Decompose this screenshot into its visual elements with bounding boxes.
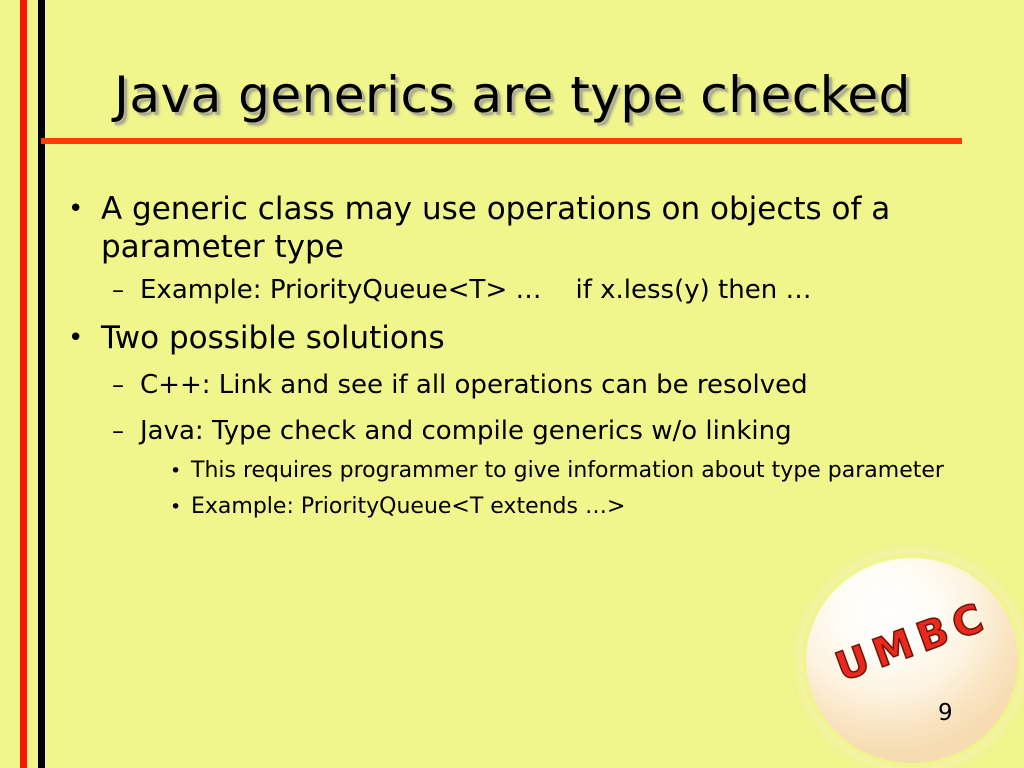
bullet-marker-level2: – [112, 273, 140, 308]
bullet-level1-text: A generic class may use operations on ob… [101, 190, 956, 266]
bullet-marker-level2: – [112, 368, 140, 403]
bullet-level2-item: – Java: Type check and compile generics … [60, 414, 990, 449]
bullet-level2-text: Example: PriorityQueue<T> …if x.less(y) … [140, 273, 990, 308]
slide-title: Java generics are type checked [60, 64, 965, 126]
red-vertical-rule [20, 0, 27, 768]
bullet-level1-item: • Two possible solutions [60, 319, 990, 357]
slide-body: • A generic class may use operations on … [60, 190, 990, 523]
bullet-marker-level2: – [112, 414, 140, 449]
page-number: 9 [938, 700, 953, 726]
bullet-level3-text: Example: PriorityQueue<T extends …> [191, 492, 971, 522]
bullet-level1-item: • A generic class may use operations on … [60, 190, 990, 266]
bullet-marker-level1: • [68, 319, 101, 357]
bullet-level2-item: – Example: PriorityQueue<T> …if x.less(y… [60, 273, 990, 308]
spacer [60, 359, 990, 368]
bullet-level2-text: Java: Type check and compile generics w/… [140, 414, 990, 449]
red-horizontal-rule [41, 138, 962, 144]
bullet-level1-text: Two possible solutions [101, 319, 956, 357]
bullet-level2-text: C++: Link and see if all operations can … [140, 368, 990, 403]
bullet-marker-level3: • [170, 456, 191, 486]
bullet-level3-text: This requires programmer to give informa… [191, 456, 971, 486]
bullet-marker-level3: • [170, 492, 191, 522]
bullet-level3-item: • This requires programmer to give infor… [60, 456, 990, 486]
black-vertical-rule [38, 0, 45, 768]
bullet-marker-level1: • [68, 190, 101, 228]
example-condition-text: if x.less(y) then … [576, 275, 812, 305]
presentation-slide: Java generics are type checked • A gener… [0, 0, 1024, 768]
spacer [60, 405, 990, 414]
spacer [60, 310, 990, 319]
bullet-level2-item: – C++: Link and see if all operations ca… [60, 368, 990, 403]
bullet-level3-item: • Example: PriorityQueue<T extends …> [60, 492, 990, 522]
example-priorityqueue-text: Example: PriorityQueue<T> … [140, 275, 542, 305]
